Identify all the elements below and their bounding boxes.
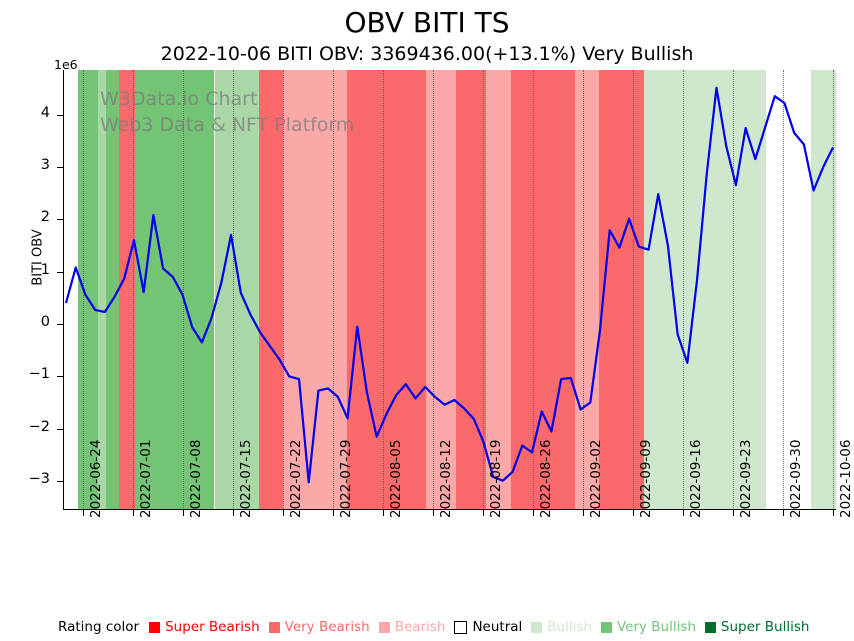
x-tick-label: 2022-08-26 <box>538 440 554 518</box>
x-tick-mark <box>383 510 384 516</box>
y-tick-mark <box>57 115 63 116</box>
legend-item[interactable]: Super Bullish <box>705 619 810 635</box>
x-tick-label: 2022-08-05 <box>388 440 404 518</box>
y-tick-label: 4 <box>0 105 50 121</box>
x-tick-mark <box>333 510 334 516</box>
x-tick-mark <box>233 510 234 516</box>
y-tick-label: 3 <box>0 157 50 173</box>
legend-label: Bearish <box>395 619 446 635</box>
y-tick-label: −2 <box>0 419 50 435</box>
legend-item[interactable]: Very Bearish <box>269 619 370 635</box>
y-tick-mark <box>57 376 63 377</box>
y-tick-mark <box>57 272 63 273</box>
legend: Rating color Super BearishVery BearishBe… <box>58 616 854 638</box>
x-tick-label: 2022-07-29 <box>338 440 354 518</box>
y-tick-label: −1 <box>0 366 50 382</box>
x-tick-mark <box>783 510 784 516</box>
legend-label: Very Bearish <box>285 619 370 635</box>
chart-subtitle: 2022-10-06 BITI OBV: 3369436.00(+13.1%) … <box>0 42 854 66</box>
y-tick-mark <box>57 167 63 168</box>
legend-swatch <box>454 621 467 634</box>
legend-swatch <box>601 622 612 633</box>
x-tick-label: 2022-09-02 <box>588 440 604 518</box>
x-tick-mark <box>583 510 584 516</box>
y-tick-label: 0 <box>0 314 50 330</box>
obv-line-path <box>66 88 833 482</box>
legend-label: Super Bullish <box>721 619 810 635</box>
x-tick-label: 2022-09-09 <box>638 440 654 518</box>
x-tick-label: 2022-07-15 <box>238 440 254 518</box>
y-tick-mark <box>57 324 63 325</box>
legend-title: Rating color <box>58 619 139 635</box>
chart-root: OBV BITI TS 2022-10-06 BITI OBV: 3369436… <box>0 0 854 641</box>
y-tick-label: −3 <box>0 471 50 487</box>
x-tick-mark <box>183 510 184 516</box>
x-tick-label: 2022-09-23 <box>738 440 754 518</box>
y-tick-label: 1 <box>0 262 50 278</box>
x-tick-label: 2022-10-06 <box>838 440 854 518</box>
x-tick-mark <box>133 510 134 516</box>
x-tick-mark <box>533 510 534 516</box>
legend-swatch <box>705 622 716 633</box>
x-tick-label: 2022-08-12 <box>438 440 454 518</box>
x-tick-label: 2022-07-01 <box>138 440 154 518</box>
legend-swatch <box>269 622 280 633</box>
legend-item[interactable]: Bullish <box>531 619 592 635</box>
y-tick-mark <box>57 481 63 482</box>
chart-title: OBV BITI TS <box>0 6 854 40</box>
x-tick-label: 2022-08-19 <box>488 440 504 518</box>
legend-item[interactable]: Neutral <box>454 619 522 635</box>
legend-swatch <box>149 622 160 633</box>
x-tick-mark <box>483 510 484 516</box>
x-tick-mark <box>283 510 284 516</box>
legend-label: Very Bullish <box>617 619 696 635</box>
x-tick-mark <box>833 510 834 516</box>
legend-label: Super Bearish <box>165 619 260 635</box>
x-tick-label: 2022-07-08 <box>188 440 204 518</box>
x-tick-label: 2022-06-24 <box>88 440 104 518</box>
legend-swatch <box>379 622 390 633</box>
legend-item[interactable]: Bearish <box>379 619 446 635</box>
y-tick-label: 2 <box>0 209 50 225</box>
legend-swatch <box>531 622 542 633</box>
legend-label: Bullish <box>547 619 592 635</box>
x-tick-mark <box>733 510 734 516</box>
x-tick-mark <box>433 510 434 516</box>
y-tick-mark <box>57 219 63 220</box>
legend-item[interactable]: Super Bearish <box>149 619 260 635</box>
legend-item[interactable]: Very Bullish <box>601 619 696 635</box>
legend-label: Neutral <box>472 619 522 635</box>
x-tick-mark <box>83 510 84 516</box>
x-tick-label: 2022-09-30 <box>788 440 804 518</box>
y-tick-mark <box>57 429 63 430</box>
x-tick-label: 2022-09-16 <box>688 440 704 518</box>
x-tick-mark <box>683 510 684 516</box>
x-tick-mark <box>633 510 634 516</box>
x-tick-label: 2022-07-22 <box>288 440 304 518</box>
